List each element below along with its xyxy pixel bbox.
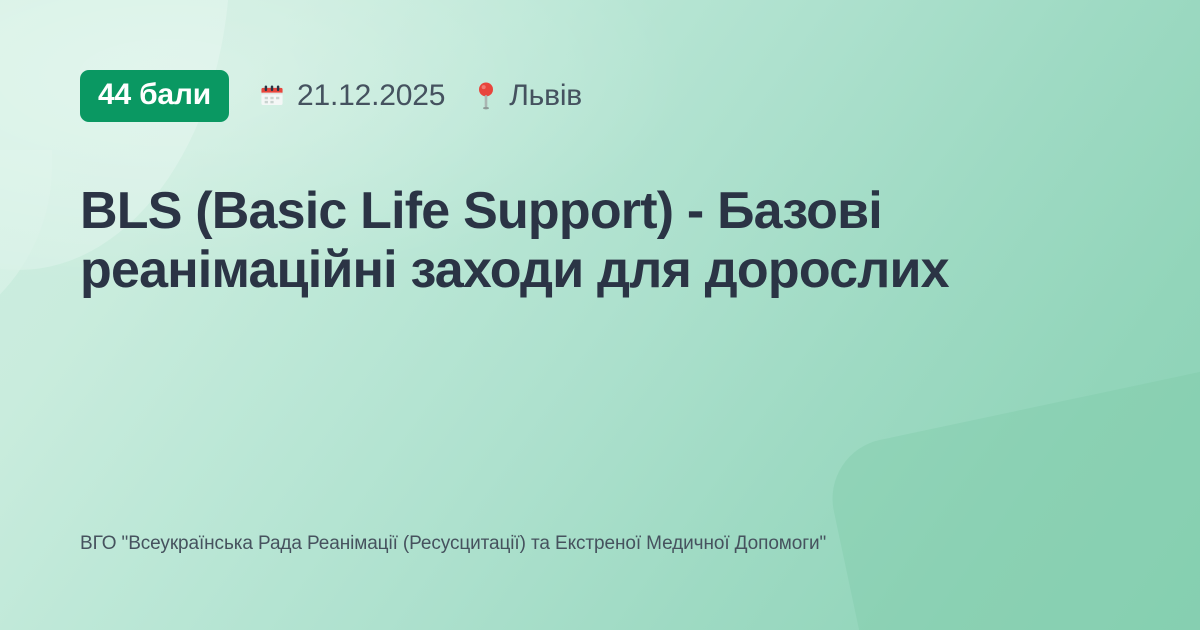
points-badge: 44 бали [80, 70, 229, 122]
organizer-text: ВГО "Всеукраїнська Рада Реанімації (Ресу… [80, 530, 960, 558]
page-title: BLS (Basic Life Support) - Базові реанім… [80, 182, 1090, 301]
event-date: 21.12.2025 [259, 79, 445, 113]
event-location-label: Львів [509, 79, 582, 113]
meta-row: 44 бали [80, 70, 1120, 122]
event-og-card: 44 бали [0, 0, 1200, 630]
card-content: 44 бали [0, 0, 1200, 630]
event-location: Львів [475, 79, 582, 113]
event-date-label: 21.12.2025 [297, 79, 445, 113]
calendar-icon [259, 83, 285, 109]
map-pin-icon [475, 82, 497, 110]
